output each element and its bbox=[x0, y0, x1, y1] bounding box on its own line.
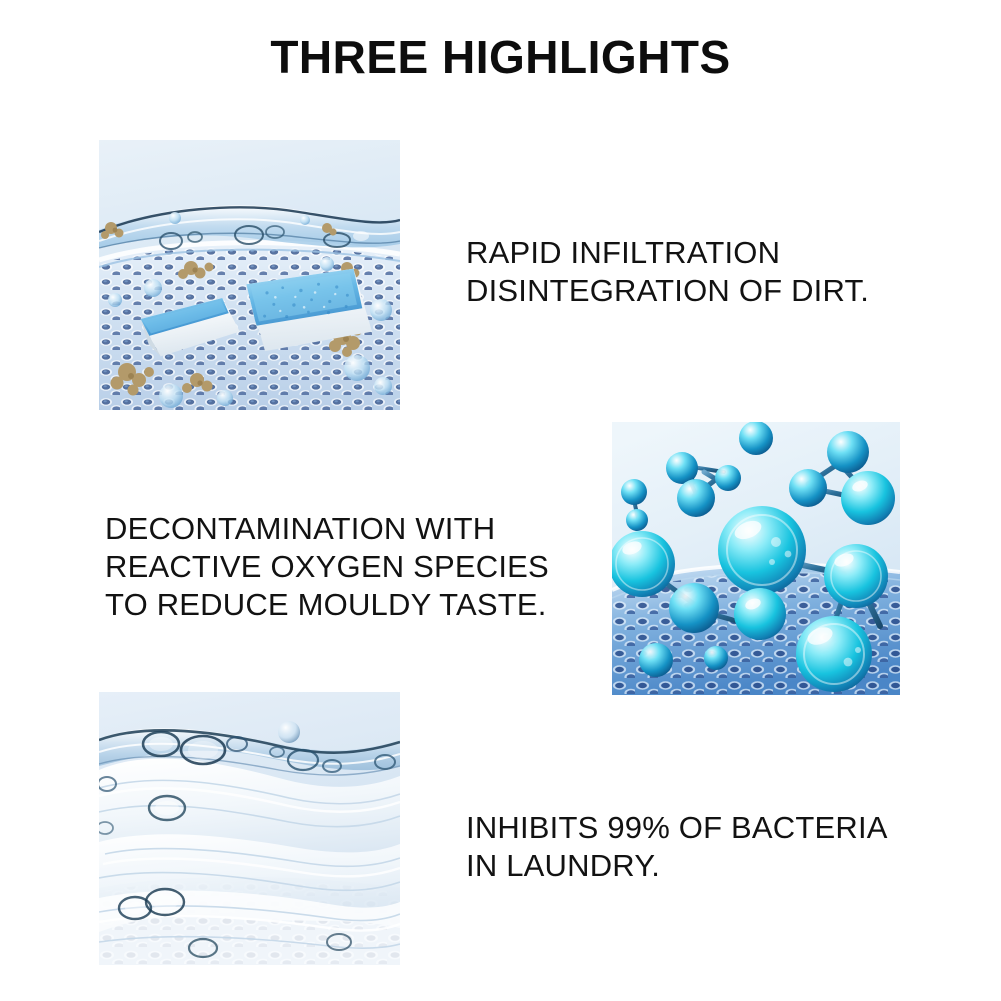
molecules-illustration bbox=[612, 422, 900, 695]
fabric-in-water-illustration bbox=[99, 692, 400, 965]
tablets-on-drum-illustration bbox=[99, 140, 400, 410]
highlight-caption-inhibits-bacteria: INHIBITS 99% OF BACTERIA IN LAUNDRY. bbox=[466, 809, 888, 885]
highlight-caption-reactive-oxygen-species: DECONTAMINATION WITH REACTIVE OXYGEN SPE… bbox=[105, 510, 549, 624]
highlight-image-rapid-infiltration bbox=[99, 140, 400, 410]
highlight-image-reactive-oxygen-species bbox=[612, 422, 900, 695]
highlight-image-inhibits-bacteria bbox=[99, 692, 400, 965]
infographic-page: THREE HIGHLIGHTS bbox=[0, 0, 1001, 1001]
page-title: THREE HIGHLIGHTS bbox=[0, 33, 1001, 81]
highlight-caption-rapid-infiltration: RAPID INFILTRATION DISINTEGRATION OF DIR… bbox=[466, 234, 869, 310]
